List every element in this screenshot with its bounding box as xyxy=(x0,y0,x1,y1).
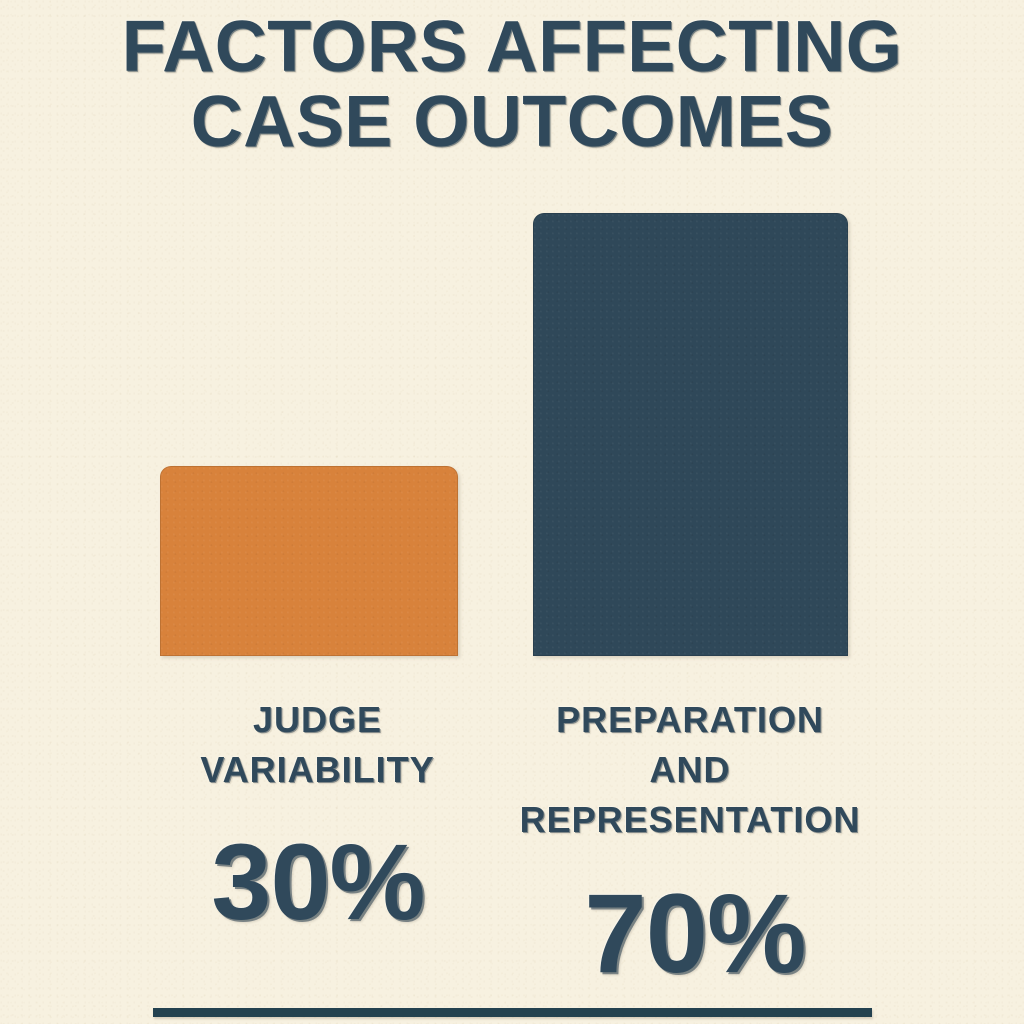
bar-value-preparation-and-representation: 70% xyxy=(495,878,895,990)
bar-label-line: AND xyxy=(460,745,920,795)
bar-label-preparation-and-representation: PREPARATION AND REPRESENTATION xyxy=(460,695,920,845)
bar-value-judge-variability: 30% xyxy=(113,828,523,936)
bar-judge-variability xyxy=(160,466,458,656)
infographic-canvas: FACTORS AFFECTING CASE OUTCOMES JUDGE VA… xyxy=(0,0,1024,1024)
bar-preparation-and-representation xyxy=(533,213,848,656)
bar-label-line: PREPARATION xyxy=(460,695,920,745)
footer-divider xyxy=(153,1008,872,1017)
bar-label-line: REPRESENTATION xyxy=(460,795,920,845)
